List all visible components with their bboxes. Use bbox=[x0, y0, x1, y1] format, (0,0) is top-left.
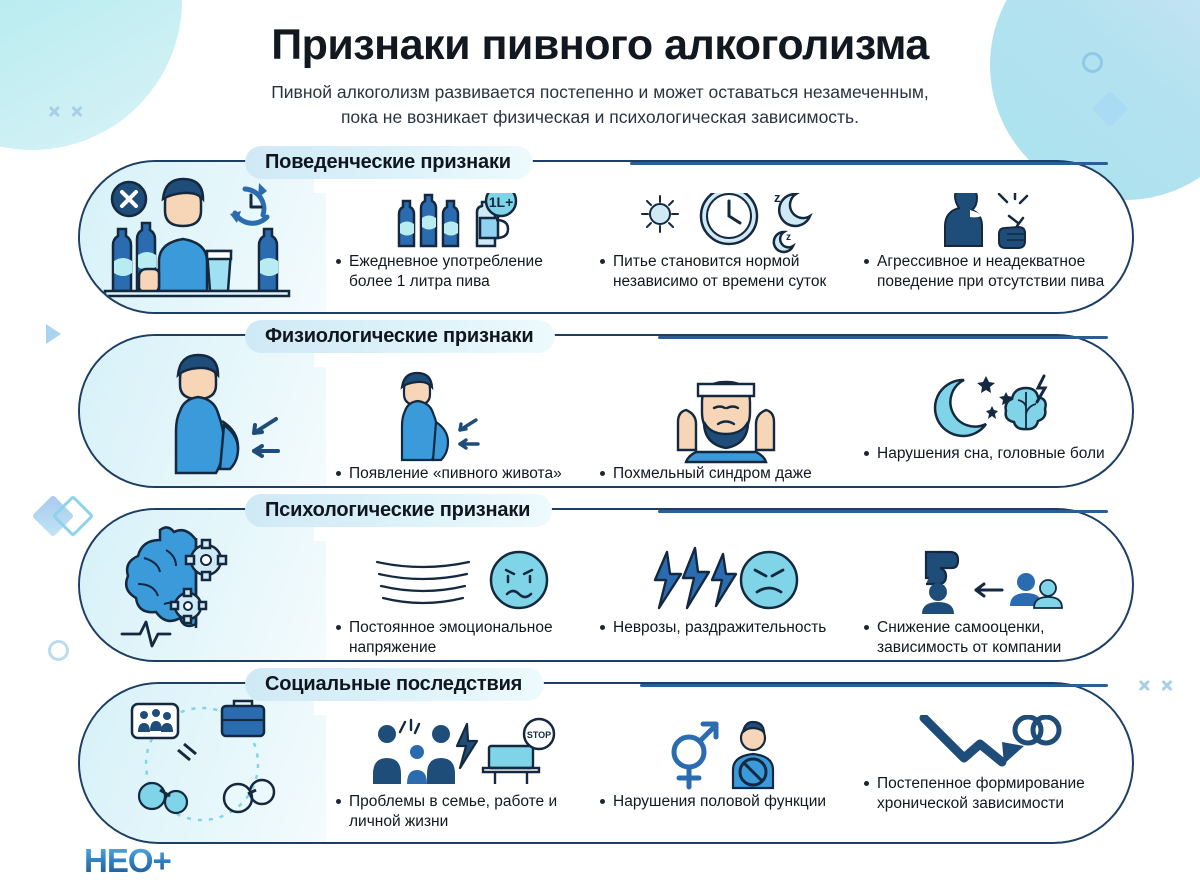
family-conflict-work-stop-sign-icon: STOP bbox=[336, 714, 588, 792]
section-title-rule bbox=[640, 684, 1108, 687]
man-with-beer-belly-side-view-illustration bbox=[124, 345, 284, 477]
list-item-label: Похмельный синдром даже после пива bbox=[613, 464, 852, 488]
list-item: Появление «пивного живота» bbox=[330, 366, 594, 480]
section-physiological: Появление «пивного живота» bbox=[0, 320, 1200, 488]
section-title-social: Социальные последствия bbox=[245, 668, 544, 701]
list-item-text-wrap: Нарушения сна, головные боли bbox=[864, 444, 1116, 464]
section-title-rule bbox=[658, 336, 1108, 339]
page-header: Признаки пивного алкоголизма Пивной алко… bbox=[0, 0, 1200, 130]
list-item: Снижение самооценки, зависимость от комп… bbox=[858, 540, 1122, 654]
list-item: Похмельный синдром даже после пива bbox=[594, 366, 858, 480]
list-item-text-wrap: Проблемы в семье, работе и личной жизни bbox=[336, 792, 588, 831]
list-item-text-wrap: Ежедневное употребление более 1 литра пи… bbox=[336, 252, 588, 291]
section-card: STOP Проблемы в семье, работе и личной ж… bbox=[78, 682, 1134, 844]
section-card: Постоянное эмоциональное напряжение bbox=[78, 508, 1134, 662]
moon-stars-brain-insomnia-icon bbox=[864, 366, 1116, 444]
brain-with-gears-and-pulse-illustration bbox=[114, 522, 294, 648]
page-subtitle-line-1: Пивной алкоголизм развивается постепенно… bbox=[0, 80, 1200, 105]
section-title-behavioral: Поведенческие признаки bbox=[245, 146, 533, 179]
bullet-dot bbox=[336, 471, 341, 476]
list-item: Нарушения половой функции bbox=[594, 714, 858, 836]
page-subtitle: Пивной алкоголизм развивается постепенно… bbox=[0, 80, 1200, 130]
man-profile-with-belly-and-arrows-icon bbox=[336, 366, 588, 464]
list-item: Постоянное эмоциональное напряжение bbox=[330, 540, 594, 654]
list-item-text-wrap: Питье становится нормой независимо от вр… bbox=[600, 252, 852, 291]
bullet-dot bbox=[600, 625, 605, 630]
man-with-beer-bottles-clock-illustration bbox=[99, 173, 309, 301]
list-item: Агрессивное и неадекватное поведение при… bbox=[858, 192, 1122, 306]
list-item-text-wrap: Агрессивное и неадекватное поведение при… bbox=[864, 252, 1116, 291]
list-item-label: Появление «пивного живота» bbox=[349, 464, 562, 484]
panel-illustration-social bbox=[82, 686, 326, 840]
panel-illustration-behavioral bbox=[82, 164, 326, 310]
section-social: STOP Проблемы в семье, работе и личной ж… bbox=[0, 668, 1200, 844]
bullet-dot bbox=[336, 799, 341, 804]
list-item-label: Питье становится нормой независимо от вр… bbox=[613, 252, 852, 291]
list-item-label: Неврозы, раздражительность bbox=[613, 618, 826, 638]
section-title-rule bbox=[658, 510, 1108, 513]
thumbs-down-person-leaving-group-icon bbox=[864, 540, 1116, 618]
section-card: 1L+ Ежедневное употребление более 1 литр… bbox=[78, 160, 1134, 314]
section-title-physiological: Физиологические признаки bbox=[245, 320, 555, 353]
list-item-label: Ежедневное употребление более 1 литра пи… bbox=[349, 252, 588, 291]
section-behavioral: 1L+ Ежедневное употребление более 1 литр… bbox=[0, 146, 1200, 314]
angry-shouting-man-with-fist-icon bbox=[864, 192, 1116, 252]
bullet-dot bbox=[864, 259, 869, 264]
page-title: Признаки пивного алкоголизма bbox=[0, 22, 1200, 68]
section-psychological: Постоянное эмоциональное напряжение bbox=[0, 494, 1200, 662]
section-title-psychological: Психологические признаки bbox=[245, 494, 552, 527]
bullet-dot bbox=[336, 625, 341, 630]
bullet-dot bbox=[864, 781, 869, 786]
list-item: Нарушения сна, головные боли bbox=[858, 366, 1122, 480]
gender-symbols-blocked-person-icon bbox=[600, 714, 852, 792]
bullet-dot bbox=[600, 471, 605, 476]
page-subtitle-line-2: пока не возникает физическая и психологи… bbox=[0, 105, 1200, 130]
bullet-dot bbox=[336, 259, 341, 264]
list-item: Неврозы, раздражительность bbox=[594, 540, 858, 654]
badge-1l-plus: 1L+ bbox=[489, 194, 514, 210]
list-item: 1L+ Ежедневное употребление более 1 литр… bbox=[330, 192, 594, 306]
items-physiological: Появление «пивного живота» bbox=[330, 366, 1122, 480]
list-item-label: Снижение самооценки, зависимость от комп… bbox=[877, 618, 1116, 657]
footer: НЕО+ bbox=[84, 842, 171, 880]
bullet-dot bbox=[864, 451, 869, 456]
broken-chain-family-work-handcuffs-illustration bbox=[114, 698, 294, 828]
list-item-label: Нарушения половой функции bbox=[613, 792, 826, 812]
list-item-label: Постепенное формирование хронической зав… bbox=[877, 774, 1116, 813]
clock-sun-moon-day-night-icon: z z bbox=[600, 192, 852, 252]
lightning-bolts-with-angry-face-icon bbox=[600, 540, 852, 618]
list-item-text-wrap: Нарушения половой функции bbox=[600, 792, 852, 812]
list-item-text-wrap: Постоянное эмоциональное напряжение bbox=[336, 618, 588, 657]
bullet-dot bbox=[864, 625, 869, 630]
bullet-dot bbox=[600, 259, 605, 264]
bullet-dot bbox=[600, 799, 605, 804]
stop-label: STOP bbox=[526, 730, 550, 740]
list-item-text-wrap: Постепенное формирование хронической зав… bbox=[864, 774, 1116, 813]
section-title-rule bbox=[630, 162, 1108, 165]
items-psychological: Постоянное эмоциональное напряжение bbox=[330, 540, 1122, 654]
items-social: STOP Проблемы в семье, работе и личной ж… bbox=[330, 714, 1122, 836]
brand-logo: НЕО+ bbox=[84, 842, 171, 880]
man-with-headache-ice-pack-icon bbox=[600, 366, 852, 464]
three-beer-bottles-with-1L-plus-jug-icon: 1L+ bbox=[336, 192, 588, 252]
items-behavioral: 1L+ Ежедневное употребление более 1 литр… bbox=[330, 192, 1122, 306]
panel-illustration-psychological bbox=[82, 512, 326, 658]
list-item-text-wrap: Похмельный синдром даже после пива bbox=[600, 464, 852, 488]
downward-arrow-with-rings-icon bbox=[864, 714, 1116, 774]
list-item-text-wrap: Снижение самооценки, зависимость от комп… bbox=[864, 618, 1116, 657]
list-item: z z Питье становится нормой независимо о… bbox=[594, 192, 858, 306]
sections-container: 1L+ Ежедневное употребление более 1 литр… bbox=[0, 146, 1200, 844]
list-item-label: Нарушения сна, головные боли bbox=[877, 444, 1105, 464]
list-item: Постепенное формирование хронической зав… bbox=[858, 714, 1122, 836]
svg-text:z: z bbox=[786, 232, 791, 243]
list-item: STOP Проблемы в семье, работе и личной ж… bbox=[330, 714, 594, 836]
list-item-label: Агрессивное и неадекватное поведение при… bbox=[877, 252, 1116, 291]
list-item-text-wrap: Появление «пивного живота» bbox=[336, 464, 588, 484]
list-item-label: Постоянное эмоциональное напряжение bbox=[349, 618, 588, 657]
list-item-text-wrap: Неврозы, раздражительность bbox=[600, 618, 852, 638]
section-card: Появление «пивного живота» bbox=[78, 334, 1134, 488]
panel-illustration-physiological bbox=[82, 338, 326, 484]
tension-lines-with-worried-face-icon bbox=[336, 540, 588, 618]
list-item-label: Проблемы в семье, работе и личной жизни bbox=[349, 792, 588, 831]
